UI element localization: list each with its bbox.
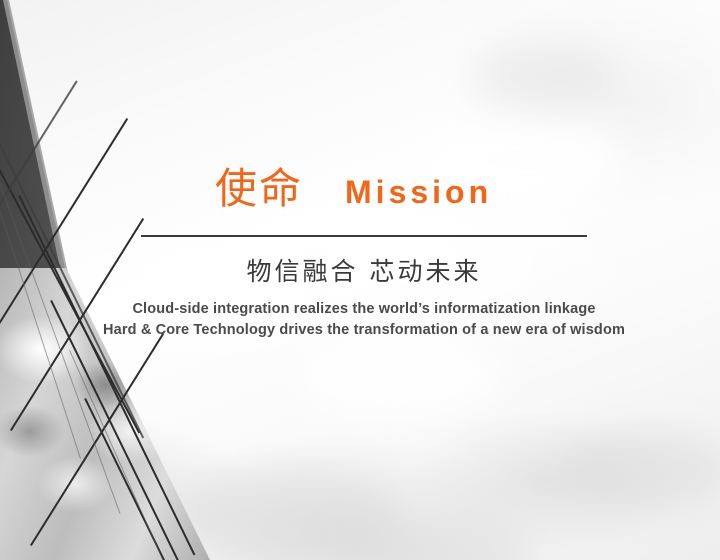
hero-title-row: 使命 Mission — [141, 168, 591, 224]
cloud-shadow — [470, 40, 620, 110]
page-title-en: Mission — [345, 176, 492, 208]
description-block: Cloud-side integration realizes the worl… — [61, 299, 667, 341]
description-line-2: Hard & Core Technology drives the transf… — [61, 320, 667, 341]
title-divider — [141, 235, 587, 237]
cloud-wisp — [300, 330, 500, 420]
page-title-cn: 使命 — [215, 168, 303, 210]
mission-hero-banner: 使命 Mission 物信融合 芯动未来 Cloud-side integrat… — [0, 0, 720, 560]
description-line-1: Cloud-side integration realizes the worl… — [61, 299, 667, 320]
cloud-shadow — [560, 430, 720, 510]
subtitle-cn: 物信融合 芯动未来 — [141, 257, 587, 287]
